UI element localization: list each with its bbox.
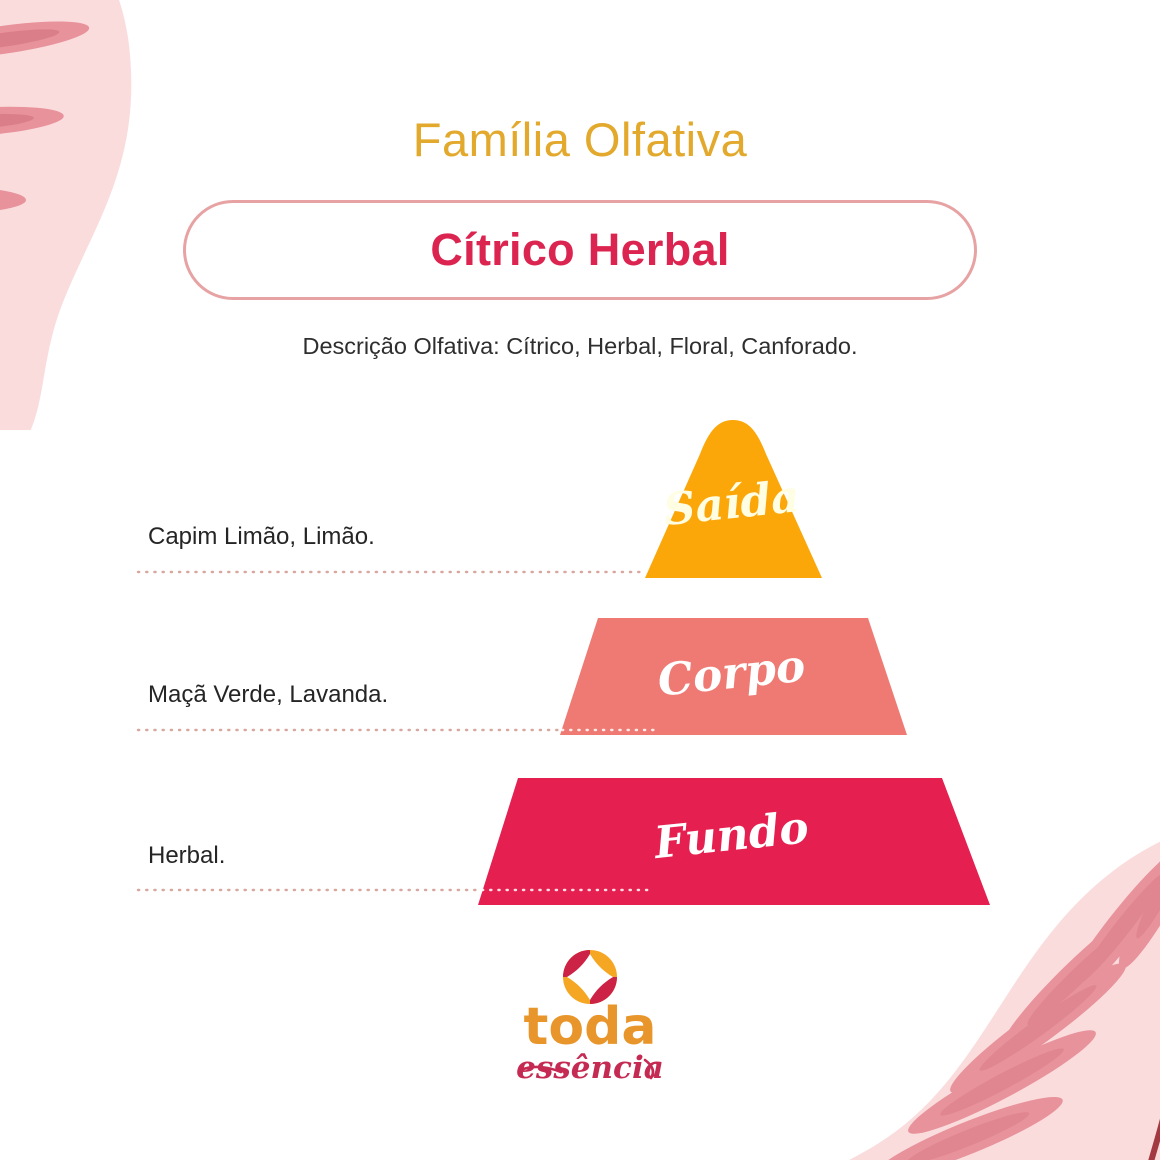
tier-fundo-notes: Herbal. [148,842,225,870]
toda-essencia-logo-icon: toda essência [495,948,685,1093]
tier-saida-notes: Capim Limão, Limão. [148,523,375,551]
logo-mark-icon [563,950,617,1004]
tier-corpo-notes: Maçã Verde, Lavanda. [148,681,388,709]
family-name-text: Cítrico Herbal [186,203,974,297]
olfactory-description: Descrição Olfativa: Cítrico, Herbal, Flo… [0,333,1160,360]
family-name-pill: Cítrico Herbal [183,200,977,300]
page-title: Família Olfativa [0,112,1160,167]
fragrance-pyramid: Saída Corpo Fundo Capim Limão, Limão. Ma… [0,400,1160,920]
logo-word-top: toda [524,997,657,1057]
olfactory-family-card: Família Olfativa Cítrico Herbal Descriçã… [0,0,1160,1160]
brand-logo: toda essência [495,948,685,1093]
